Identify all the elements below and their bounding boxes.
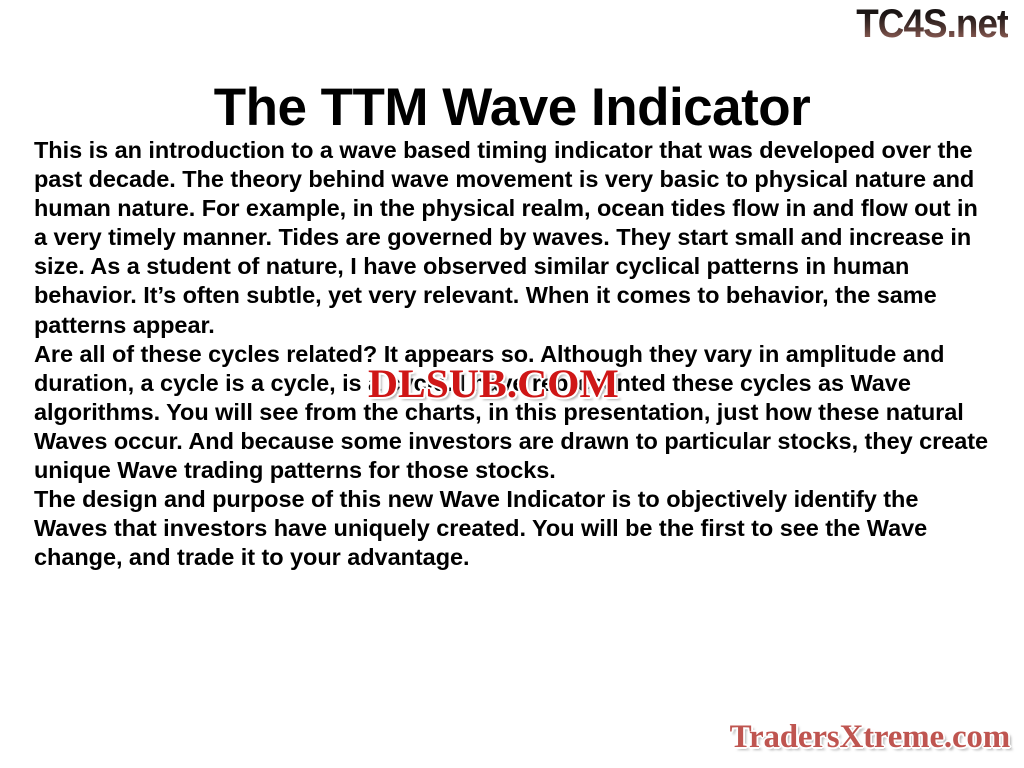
slide-body-text: This is an introduction to a wave based …	[34, 136, 994, 572]
dlsub-watermark-text: DLSUB.COM	[368, 361, 619, 406]
slide-title: The TTM Wave Indicator	[0, 78, 1024, 138]
tc4s-brand-logo: TC4S.net	[856, 2, 1008, 46]
body-paragraph-1: This is an introduction to a wave based …	[34, 136, 994, 340]
tradersxtreme-footer-logo: TradersXtreme.com	[730, 718, 1010, 756]
body-paragraph-3: The design and purpose of this new Wave …	[34, 485, 994, 572]
dlsub-watermark: DLSUB.COM	[368, 362, 619, 406]
presentation-slide: TC4S.net The TTM Wave Indicator This is …	[0, 0, 1024, 768]
